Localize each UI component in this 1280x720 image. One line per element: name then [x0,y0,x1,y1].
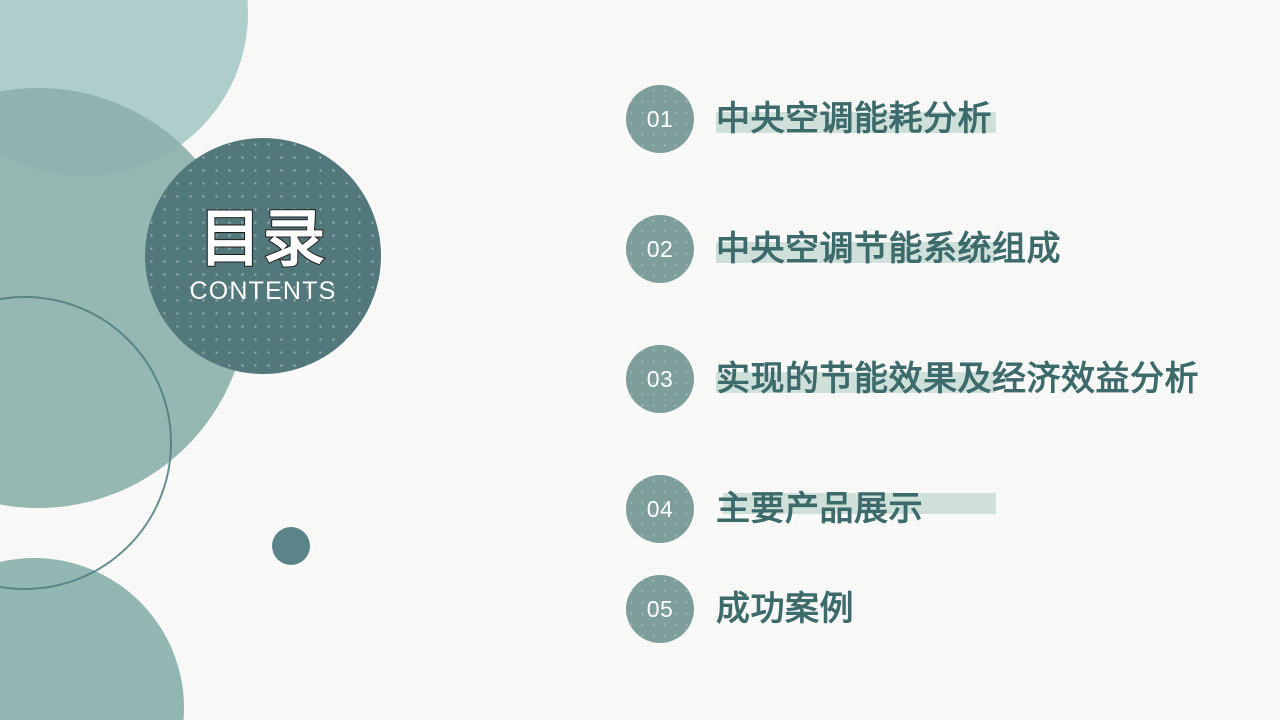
agenda-number-label: 03 [647,368,674,391]
agenda-text-wrap-05: 成功案例 [716,575,854,643]
agenda-number-label: 01 [647,108,674,131]
agenda-item-label: 实现的节能效果及经济效益分析 [716,362,1199,396]
agenda-number-badge-02: 02 [626,215,694,283]
agenda-item-03[interactable]: 03 实现的节能效果及经济效益分析 [626,345,1266,475]
decorative-dot-circle [272,527,310,565]
agenda-item-label: 中央空调能耗分析 [716,102,992,136]
agenda-item-04[interactable]: 04 主要产品展示 [626,475,1266,575]
agenda-item-label: 主要产品展示 [716,492,923,526]
agenda-number-badge-05: 05 [626,575,694,643]
agenda-item-02[interactable]: 02 中央空调节能系统组成 [626,215,1266,345]
agenda-list: 01 中央空调能耗分析 02 中央空调节能系统组成 03 实现的节能效果及经济效… [626,85,1266,675]
agenda-item-label: 中央空调节能系统组成 [716,232,1061,266]
agenda-item-01[interactable]: 01 中央空调能耗分析 [626,85,1266,215]
page-title: 目录 [199,209,327,271]
agenda-text-wrap-02: 中央空调节能系统组成 [716,215,1061,283]
agenda-item-05[interactable]: 05 成功案例 [626,575,1266,675]
agenda-item-label: 成功案例 [716,592,854,626]
agenda-text-wrap-01: 中央空调能耗分析 [716,85,992,153]
agenda-number-label: 05 [647,598,674,621]
agenda-number-label: 02 [647,238,674,261]
agenda-text-wrap-04: 主要产品展示 [716,475,923,543]
agenda-text-wrap-03: 实现的节能效果及经济效益分析 [716,345,1199,413]
page-subtitle: CONTENTS [189,279,336,304]
agenda-number-badge-01: 01 [626,85,694,153]
agenda-number-badge-04: 04 [626,475,694,543]
slide-canvas: 目录 CONTENTS 01 中央空调能耗分析 02 中央空调节能系统组成 03 [0,0,1280,720]
agenda-number-label: 04 [647,498,674,521]
contents-title-circle: 目录 CONTENTS [145,138,381,374]
agenda-number-badge-03: 03 [626,345,694,413]
